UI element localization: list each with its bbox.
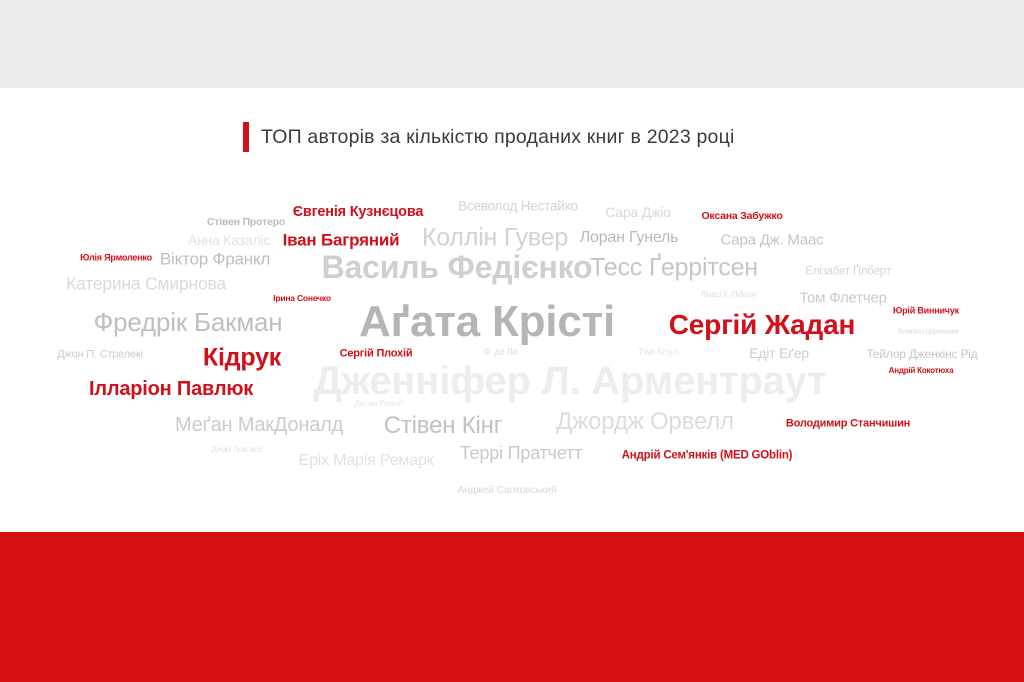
cloud-word: Джон П. Стрелекі [57, 350, 143, 361]
cloud-word: Сара Джіо [605, 205, 670, 219]
title-text: ТОП авторів за кількістю проданих книг в… [261, 126, 734, 149]
cloud-word: Комомо Шірахама [898, 327, 958, 335]
cloud-word: Джордж Орвелл [556, 410, 734, 434]
cloud-word: Лоран Гунель [580, 230, 679, 246]
cloud-word: Володимир Станчишин [786, 419, 910, 430]
cloud-word: Джоан Ролінґ [354, 400, 401, 408]
cloud-word: Стівен Кінг [384, 414, 503, 438]
cloud-word: Меґан МакДоналд [175, 415, 343, 435]
cloud-word: Сергій Плохій [340, 349, 413, 360]
cloud-word: Андрій Сем'янків (MED GOblin) [622, 450, 793, 462]
infographic-page: ТОП авторів за кількістю проданих книг в… [0, 0, 1024, 682]
cloud-word: Террі Пратчетт [460, 444, 582, 462]
cloud-word: Юлія Ярмоленко [80, 254, 152, 263]
cloud-word: Том Флетчер [799, 291, 887, 306]
cloud-word: Аґата Крісті [359, 300, 615, 344]
cloud-word: Всеволод Нестайко [458, 199, 578, 213]
cloud-word: Джим Ловлесс [211, 446, 262, 454]
cloud-word: Анна Казаліс [188, 233, 270, 247]
cloud-word: Анджей Сапковський [457, 485, 556, 496]
cloud-word: Катерина Смирнова [66, 275, 226, 293]
cloud-word: Едіт Еґер [749, 346, 809, 360]
cloud-word: Юрій Винничук [893, 307, 959, 316]
cloud-word: Ірина Сонечко [273, 294, 331, 303]
cloud-word: Стівен Протеро [207, 217, 285, 228]
cloud-word: Елізабет Ґілберт [805, 266, 891, 278]
cloud-word: Кідрук [203, 346, 281, 371]
cloud-word: Андрій Кокотюха [889, 367, 954, 375]
cloud-word: Тімі Коул [638, 348, 678, 358]
page-title: ТОП авторів за кількістю проданих книг в… [243, 122, 734, 152]
cloud-word: Фредрік Бакман [94, 309, 283, 335]
cloud-word: Тесс Ґеррітсен [590, 256, 758, 281]
cloud-word: Сергій Жадан [669, 311, 855, 339]
cloud-word: Іван Багряний [283, 232, 400, 249]
cloud-word: Ілларіон Павлюк [89, 379, 253, 399]
cloud-word: Коллін Гувер [422, 226, 568, 251]
cloud-word: Василь Федієнко [322, 251, 593, 283]
top-gray-strip [0, 0, 1024, 88]
word-cloud: Стівен ПротероЄвгенія КузнєцоваВсеволод … [0, 170, 1024, 520]
cloud-word: Євгенія Кузнєцова [293, 205, 423, 220]
cloud-word: Дженніфер Л. Арментраут [313, 361, 826, 401]
cloud-word: Ліндсі К. Пібсон [701, 291, 756, 299]
cloud-word: Сара Дж. Маас [721, 233, 824, 248]
footer-banner: Показники продажів в мережі магазинів та… [0, 532, 1024, 682]
cloud-word: Еріх Марія Ремарк [299, 453, 434, 469]
cloud-word: Ф. де Ліс [483, 348, 518, 357]
cloud-word: Тейлор Дженкінс Рід [866, 348, 977, 360]
cloud-word: Оксана Забужко [701, 211, 782, 222]
cloud-word: Віктор Франкл [160, 251, 270, 268]
title-accent-bar [243, 122, 249, 152]
